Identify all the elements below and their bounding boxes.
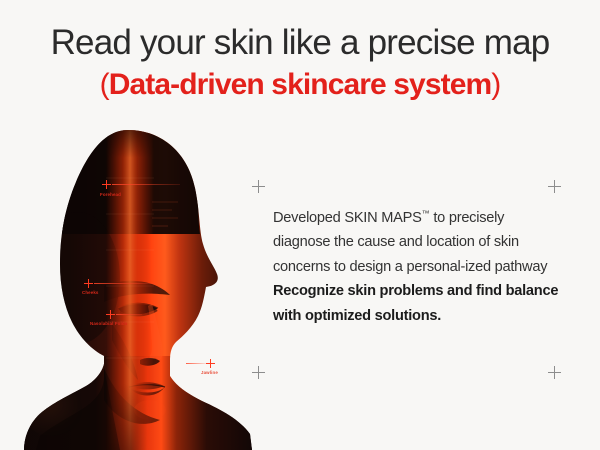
paren-open: ( [100, 68, 109, 101]
portrait-image: Forehead Cheeks Nasolabial Folds Jawline [0, 118, 252, 450]
panel-paragraph-emphasis: Recognize skin problems and find balance… [273, 279, 563, 328]
page-title: Read your skin like a precise map [0, 22, 600, 64]
info-panel: Developed SKIN MAPS™ to precisely diagno… [248, 180, 578, 386]
corner-marker-bottom-right-icon [548, 366, 561, 379]
trademark-symbol: ™ [422, 209, 430, 218]
promo-banner: Read your skin like a precise map (Data-… [0, 0, 600, 450]
info-panel-text: Developed SKIN MAPS™ to precisely diagno… [273, 202, 563, 328]
headline-subtitle: (Data-driven skincare system) [0, 66, 600, 104]
headline-subtitle-text: Data-driven skincare system [109, 68, 492, 101]
panel-paragraph-lead: Developed SKIN MAPS™ to precisely diagno… [273, 202, 563, 279]
paren-close: ) [491, 68, 500, 101]
corner-marker-bottom-left-icon [252, 366, 265, 379]
headline-block: Read your skin like a precise map (Data-… [0, 22, 600, 104]
corner-marker-top-left-icon [252, 180, 265, 193]
corner-marker-top-right-icon [548, 180, 561, 193]
panel-paragraph-lead-part1: Developed SKIN MAPS [273, 210, 422, 226]
portrait-illustration [0, 118, 252, 450]
